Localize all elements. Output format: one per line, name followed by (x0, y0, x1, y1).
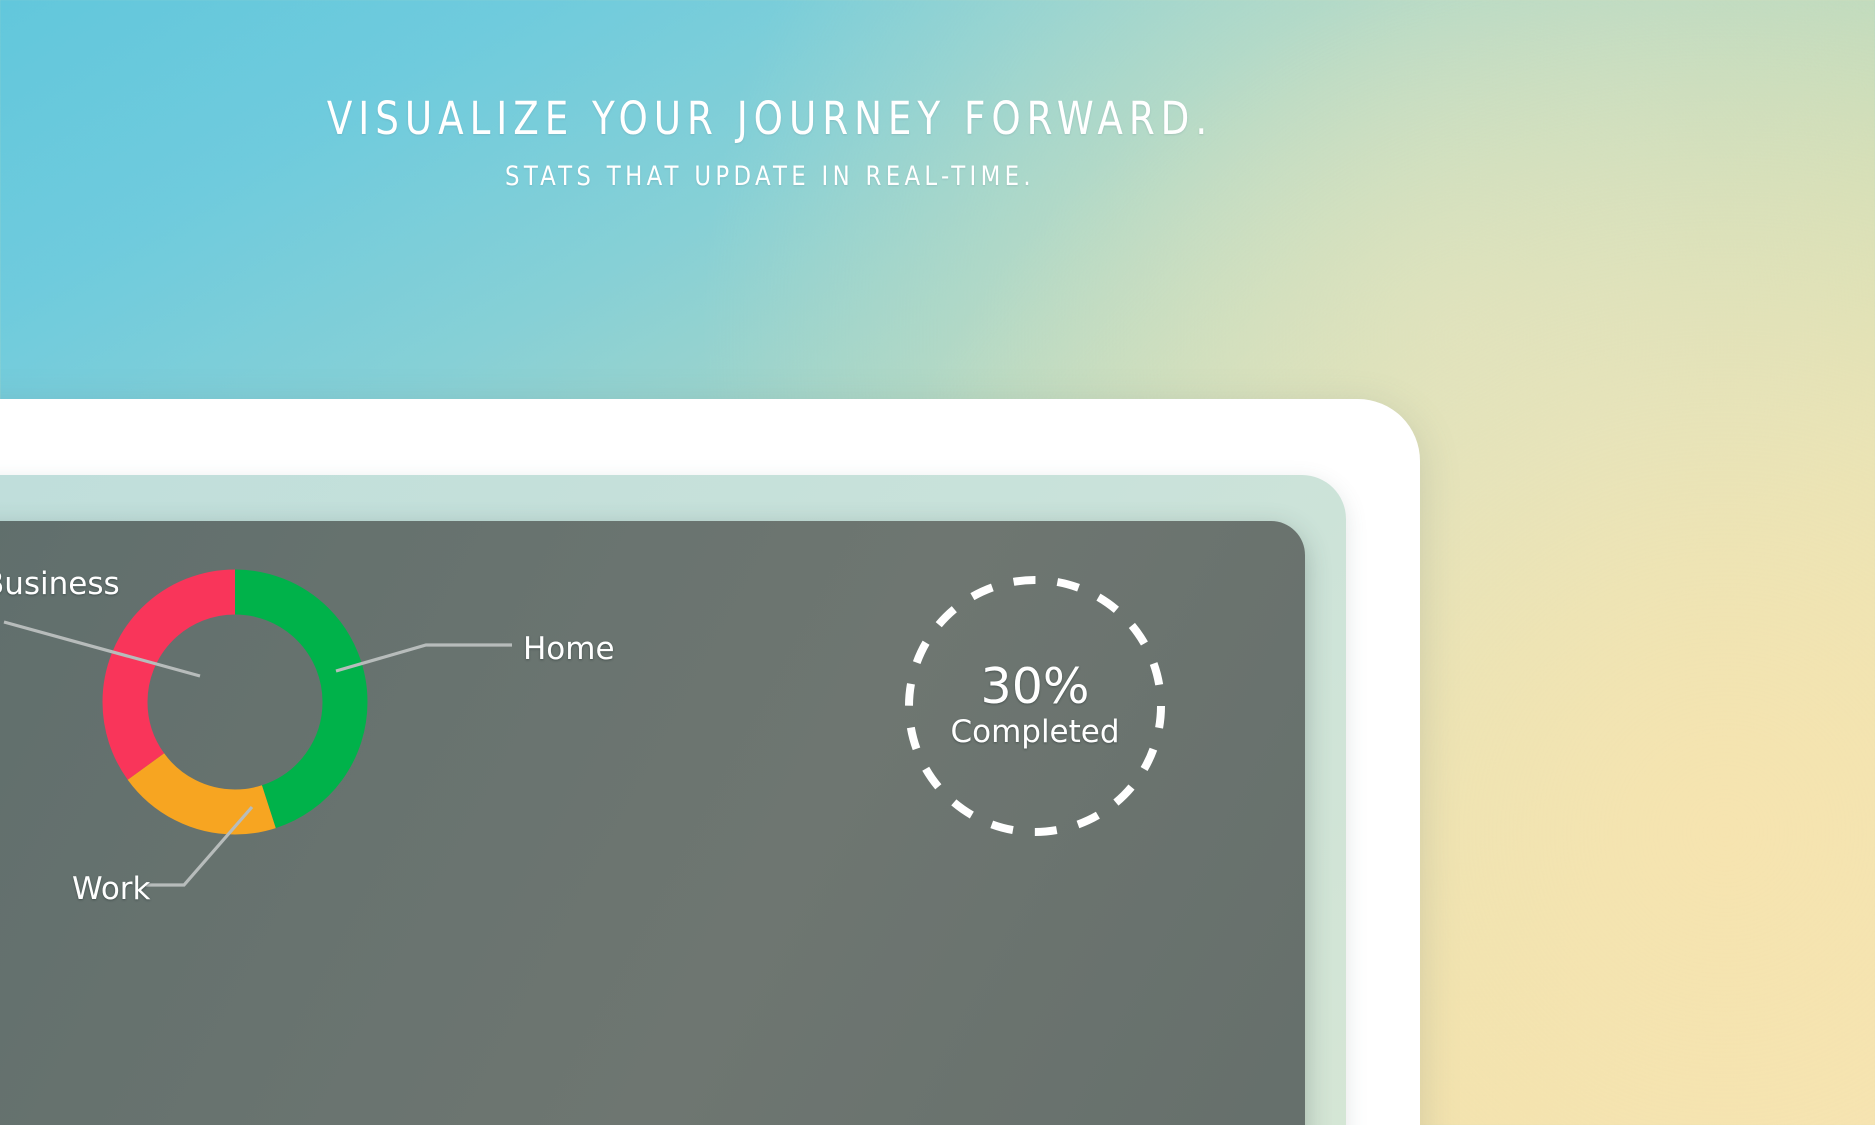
hero-header: VISUALIZE YOUR JOURNEY FORWARD. STATS TH… (0, 0, 1540, 192)
completion-progress-widget[interactable]: 30% Completed (900, 571, 1170, 841)
progress-caption: Completed (950, 714, 1119, 751)
leader-line-work (140, 801, 270, 901)
leader-line-my-business (0, 616, 220, 686)
dashboard-card: My Business Home Work 30% Completed (0, 521, 1305, 1125)
donut-label-my-business[interactable]: My Business (0, 566, 120, 602)
progress-text-group: 30% Completed (900, 571, 1170, 841)
page-subtitle: STATS THAT UPDATE IN REAL-TIME. (46, 161, 1494, 192)
page-title: VISUALIZE YOUR JOURNEY FORWARD. (62, 96, 1479, 141)
donut-label-home[interactable]: Home (523, 631, 615, 667)
donut-label-work[interactable]: Work (72, 871, 151, 907)
leader-line-home (330, 631, 520, 676)
progress-value: 30% (981, 661, 1090, 712)
